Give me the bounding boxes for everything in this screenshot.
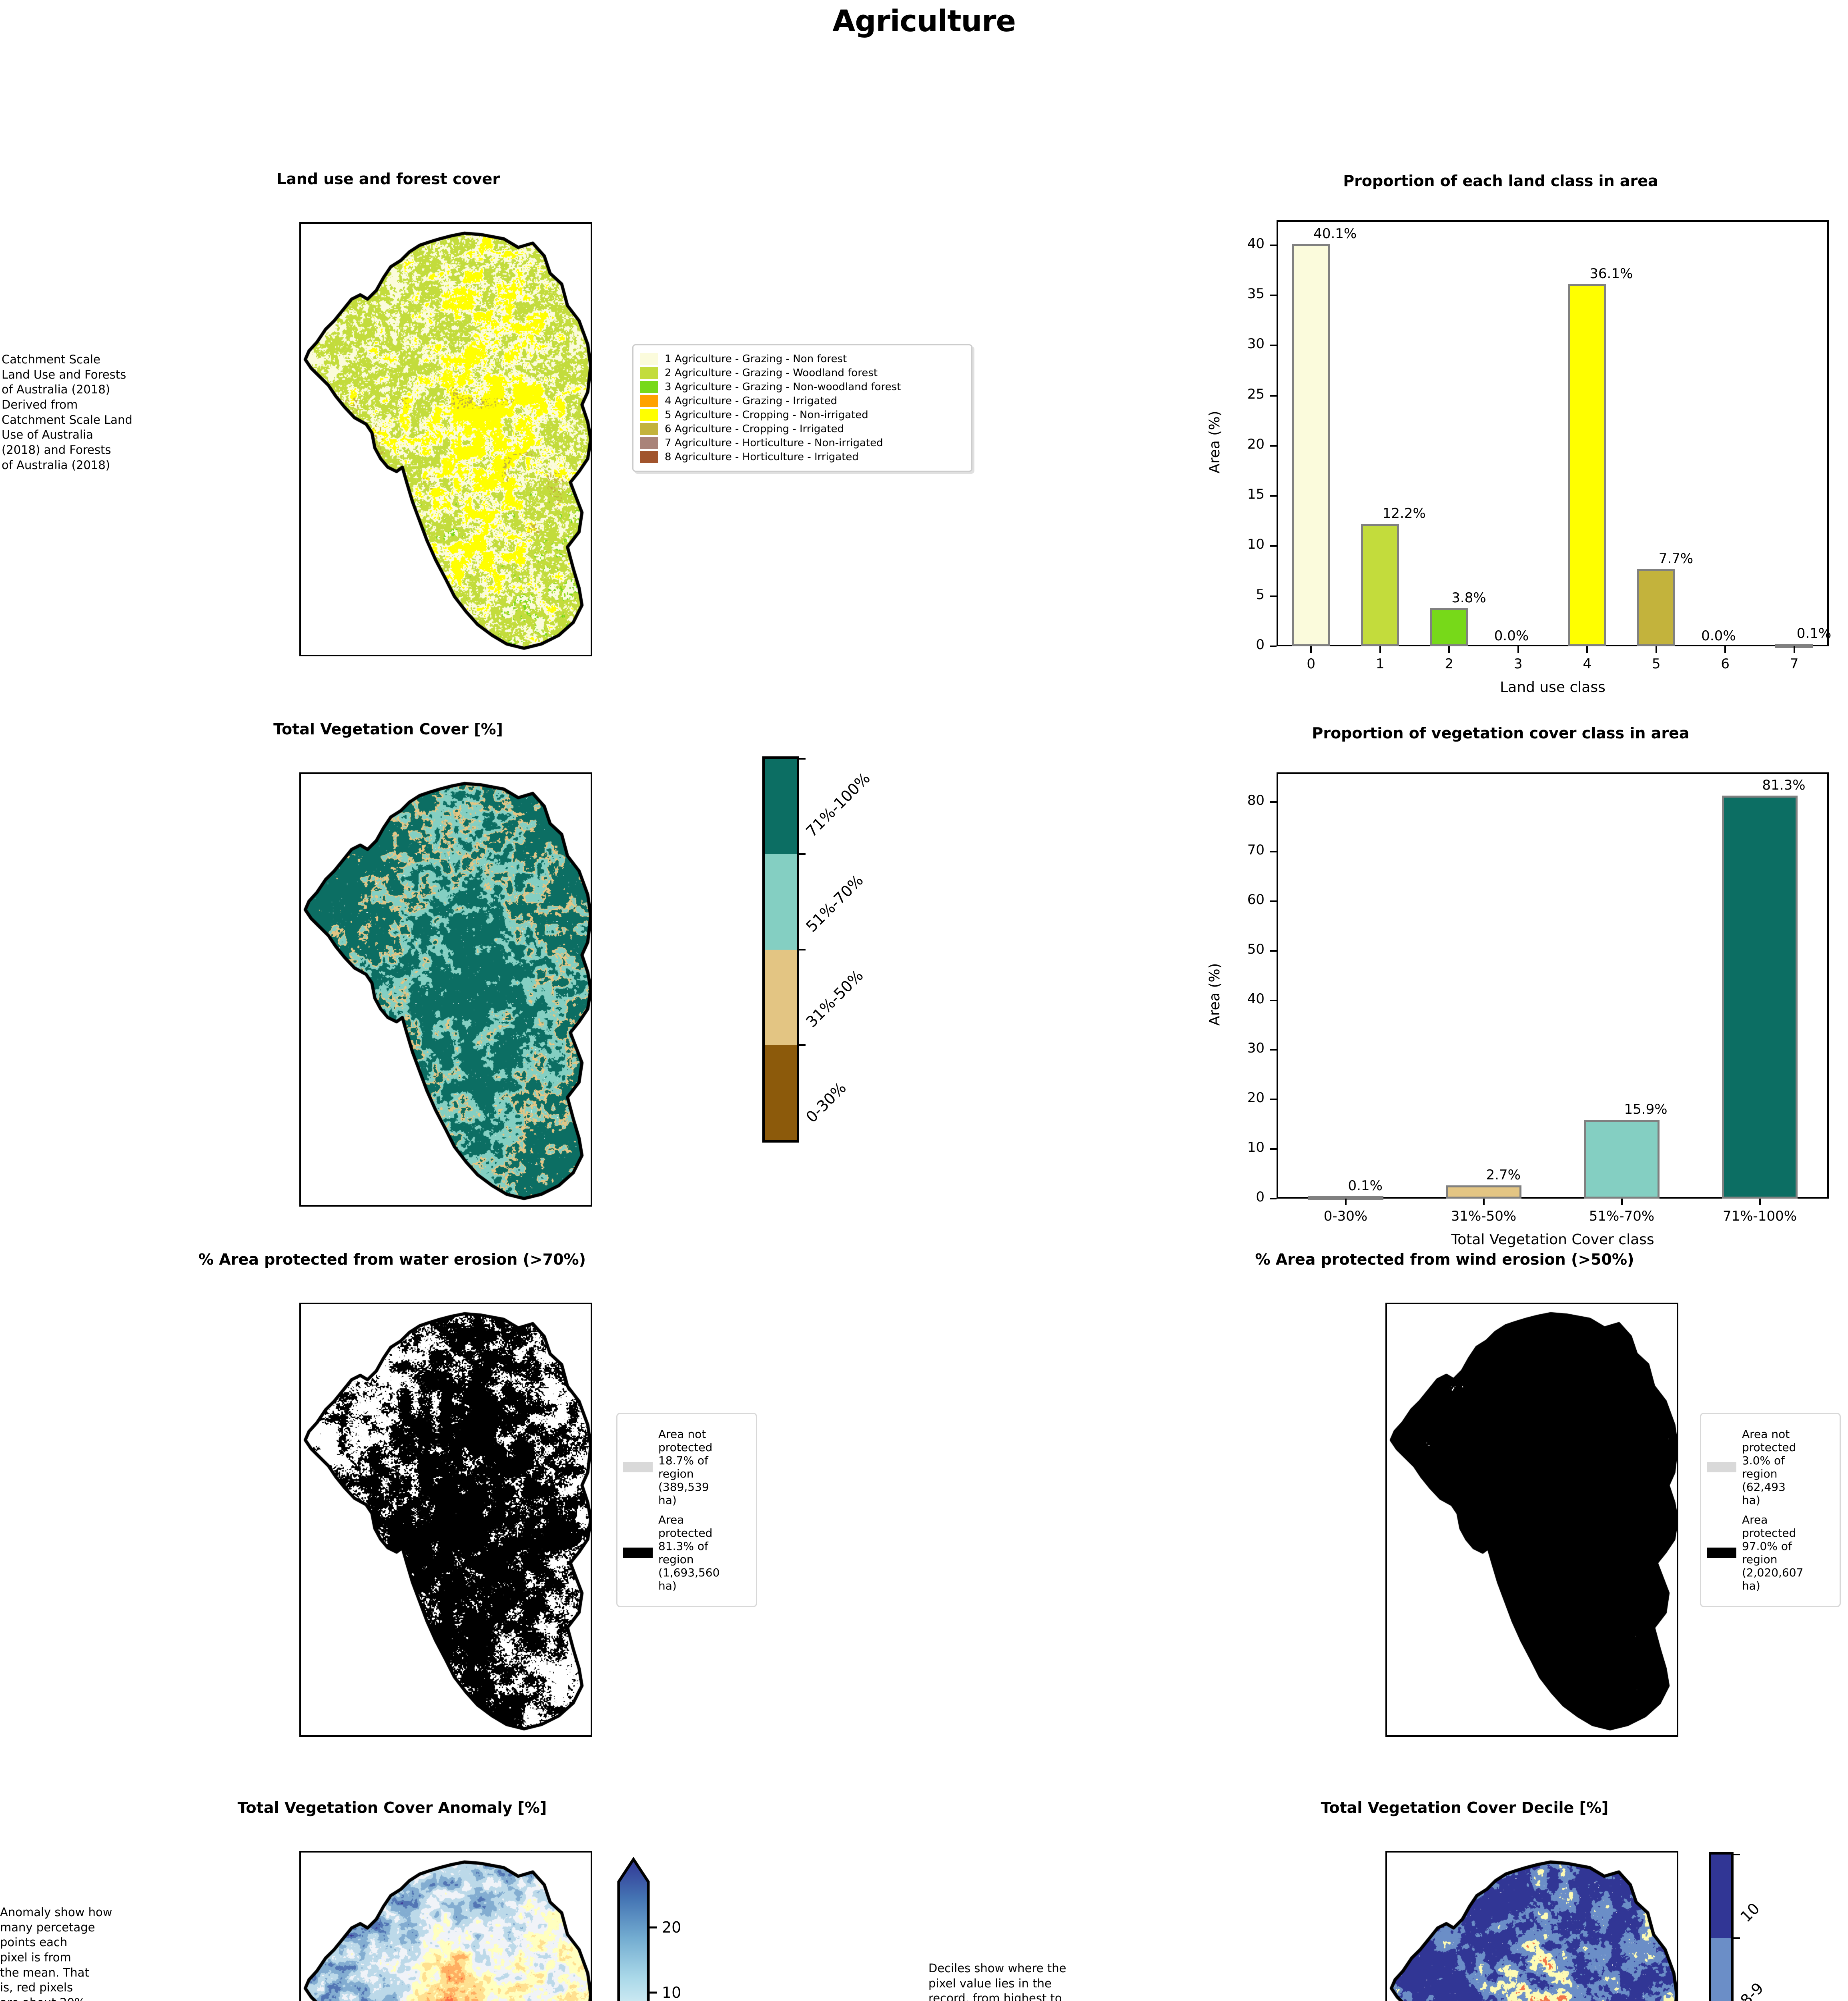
chart-bar-value-label: 2.7% <box>1486 1167 1521 1183</box>
colorbar-segment <box>765 950 797 1045</box>
map-axis-tick <box>299 1123 301 1125</box>
chart-bar-value-label: 0.1% <box>1348 1178 1383 1194</box>
map-axis-tick <box>1385 1360 1387 1362</box>
colorbar-tick <box>798 758 806 760</box>
chart-y-tick-label: 70 <box>1217 842 1265 858</box>
chart-y-tick-label: 60 <box>1217 892 1265 908</box>
land-use-legend-swatch <box>640 367 658 379</box>
land-use-legend-label: 6 Agriculture - Cropping - Irrigated <box>665 423 844 435</box>
colorbar-tick <box>798 1044 806 1046</box>
chart-x-tickmark <box>1310 646 1312 653</box>
map-axis-tick <box>299 1969 301 1971</box>
chart-y-tickmark <box>1270 1148 1277 1150</box>
land-use-legend-item: 2 Agriculture - Grazing - Woodland fores… <box>640 367 965 379</box>
chart-y-tick-label: 35 <box>1217 286 1265 302</box>
land-use-map[interactable] <box>299 222 592 656</box>
decile-colorbar: 12-34-78-910 <box>1709 1852 1734 2001</box>
chart-x-tickmark <box>1621 1199 1623 1205</box>
decile-explainer-note: Deciles show where the pixel value lies … <box>928 1961 1136 2001</box>
land-use-legend-label: 8 Agriculture - Horticulture - Irrigated <box>665 451 859 463</box>
map-axis-tick <box>533 655 534 656</box>
chart-y-tickmark <box>1270 851 1277 852</box>
map-axis-tick <box>1385 1909 1387 1910</box>
colorbar-tick <box>1732 1854 1740 1855</box>
chart-bar[interactable] <box>1446 1185 1522 1199</box>
map-axis-tick <box>299 1360 301 1362</box>
land-use-legend-swatch <box>640 423 658 435</box>
land-use-legend-item: 1 Agriculture - Grazing - Non forest <box>640 353 965 365</box>
erosion-legend-label: Area protected 81.3% of region (1,693,56… <box>658 1513 720 1592</box>
anomaly-map-title: Total Vegetation Cover Anomaly [%] <box>152 1799 632 1817</box>
map-axis-tick <box>411 1735 413 1737</box>
erosion-legend-item: Area protected 81.3% of region (1,693,56… <box>623 1513 750 1592</box>
map-axis-tick <box>1436 1735 1438 1737</box>
map-axis-tick <box>299 340 301 342</box>
map-axis-tick <box>533 1735 534 1737</box>
chart-y-tickmark <box>1270 395 1277 397</box>
colorbar-label: 0-30% <box>802 1079 850 1126</box>
chart-x-tick-label: 51%-70% <box>1566 1208 1678 1224</box>
colorbar-segment <box>765 854 797 949</box>
map-axis-tick <box>411 1205 413 1207</box>
land-use-legend-item: 3 Agriculture - Grazing - Non-woodland f… <box>640 381 965 393</box>
chart-x-tickmark <box>1483 1199 1485 1205</box>
colorbar-segment <box>1711 1855 1731 1938</box>
colorbar-tick <box>798 853 806 855</box>
map-axis-tick <box>299 1046 301 1047</box>
map-axis-tick <box>299 1421 301 1422</box>
colorbar-segment <box>765 1045 797 1140</box>
map-axis-tick <box>472 655 473 656</box>
land-use-legend-label: 2 Agriculture - Grazing - Woodland fores… <box>665 367 878 379</box>
colorbar-segment <box>1711 1938 1731 2001</box>
chart-y-tickmark <box>1270 295 1277 296</box>
chart-y-tick-label: 80 <box>1217 792 1265 808</box>
chart-bar[interactable] <box>1584 1120 1660 1199</box>
water-erosion-map-title: % Area protected from water erosion (>70… <box>140 1251 644 1268</box>
chart-y-tickmark <box>1270 345 1277 346</box>
chart-bar-value-label: 40.1% <box>1313 226 1357 242</box>
wind-erosion-map[interactable] <box>1385 1303 1678 1737</box>
erosion-legend-swatch <box>623 1548 653 1558</box>
chart-x-tickmark <box>1656 646 1657 653</box>
map-axis-tick <box>1385 1498 1387 1500</box>
map-axis-tick <box>472 1205 473 1207</box>
erosion-legend-swatch <box>1707 1548 1736 1558</box>
chart-bar-value-label: 81.3% <box>1762 777 1806 793</box>
chart-y-tickmark <box>1270 1099 1277 1100</box>
chart-y-tick-label: 25 <box>1217 386 1265 402</box>
chart-y-tickmark <box>1270 646 1277 647</box>
land-use-legend-swatch <box>640 409 658 421</box>
map-axis-tick <box>350 1205 352 1207</box>
chart-y-tick-label: 40 <box>1217 236 1265 252</box>
anomaly-colorbar-tick-label: 10 <box>662 1984 681 2001</box>
map-axis-tick <box>299 495 301 497</box>
chart-bar[interactable] <box>1361 524 1399 646</box>
chart-x-tickmark <box>1345 1199 1347 1205</box>
wind-erosion-map-title: % Area protected from wind erosion (>50%… <box>1193 1251 1697 1268</box>
chart-plot-area <box>1277 220 1829 646</box>
map-axis-tick <box>1558 1735 1559 1737</box>
map-axis-tick <box>299 1653 301 1655</box>
chart-y-tickmark <box>1270 950 1277 952</box>
chart-y-tickmark <box>1270 1198 1277 1199</box>
map-axis-tick <box>299 280 301 281</box>
map-axis-tick <box>1619 1735 1620 1737</box>
map-axis-tick <box>533 1205 534 1207</box>
chart-y-tick-label: 0 <box>1217 637 1265 653</box>
chart-x-tickmark <box>1448 646 1450 653</box>
land-use-legend: 1 Agriculture - Grazing - Non forest2 Ag… <box>632 344 972 472</box>
anomaly-colorbar: 20100−10−20 <box>608 1857 728 2001</box>
chart-y-tick-label: 50 <box>1217 941 1265 957</box>
map-axis-tick <box>299 890 301 892</box>
chart-y-tickmark <box>1270 445 1277 447</box>
chart-x-tickmark <box>1517 646 1519 653</box>
land-use-legend-swatch <box>640 437 658 449</box>
chart-y-axis-label: Area (%) <box>1207 411 1223 473</box>
chart-x-tick-label: 31%-50% <box>1428 1208 1540 1224</box>
land-use-legend-label: 5 Agriculture - Cropping - Non-irrigated <box>665 409 868 421</box>
land-use-chart-title: Proportion of each land class in area <box>1169 172 1833 190</box>
land-use-legend-swatch <box>640 395 658 407</box>
page-title: Agriculture <box>0 4 1848 38</box>
chart-bar-value-label: 7.7% <box>1659 551 1693 567</box>
map-axis-tick <box>299 418 301 419</box>
chart-x-tickmark <box>1759 1199 1761 1205</box>
decile-map-title: Total Vegetation Cover Decile [%] <box>1225 1799 1705 1817</box>
chart-bar-value-label: 0.0% <box>1494 628 1529 644</box>
map-axis-tick <box>1385 1421 1387 1422</box>
map-axis-tick <box>299 830 301 832</box>
chart-bar[interactable] <box>1637 569 1675 646</box>
chart-y-tick-label: 5 <box>1217 587 1265 603</box>
land-use-legend-swatch <box>640 353 658 365</box>
veg-cover-map-title: Total Vegetation Cover [%] <box>176 720 600 738</box>
chart-y-tickmark <box>1270 245 1277 246</box>
chart-bar-value-label: 3.8% <box>1451 590 1486 606</box>
chart-y-tick-label: 0 <box>1217 1189 1265 1205</box>
map-axis-tick <box>1385 1969 1387 1971</box>
map-axis-tick <box>1497 1735 1499 1737</box>
land-use-legend-label: 4 Agriculture - Grazing - Irrigated <box>665 395 837 407</box>
colorbar-label: 51%-70% <box>802 871 866 935</box>
chart-x-tickmark <box>1724 646 1726 653</box>
chart-y-tickmark <box>1270 900 1277 902</box>
anomaly-colorbar-gradient: 20100−10−20 <box>608 1857 728 2001</box>
chart-bar[interactable] <box>1430 608 1468 646</box>
chart-x-tick-label: 0-30% <box>1290 1208 1402 1224</box>
chart-bar-value-label: 0.1% <box>1797 626 1831 642</box>
veg-cover-chart: Proportion of vegetation cover class in … <box>1169 724 1833 1237</box>
land-use-legend-item: 8 Agriculture - Horticulture - Irrigated <box>640 451 965 463</box>
land-use-map-title: Land use and forest cover <box>176 170 600 188</box>
erosion-legend-label: Area not protected 18.7% of region (389,… <box>658 1428 712 1507</box>
map-axis-tick <box>472 1735 473 1737</box>
map-axis-tick <box>299 573 301 574</box>
colorbar-label: 8-9 <box>1737 1979 1767 2001</box>
erosion-legend-item: Area not protected 3.0% of region (62,49… <box>1707 1428 1834 1507</box>
erosion-legend-item: Area protected 97.0% of region (2,020,60… <box>1707 1513 1834 1592</box>
erosion-legend-swatch <box>623 1462 653 1472</box>
chart-bar-value-label: 0.0% <box>1701 628 1736 644</box>
chart-y-tickmark <box>1270 595 1277 597</box>
water-erosion-legend: Area not protected 18.7% of region (389,… <box>616 1413 757 1607</box>
chart-x-tickmark <box>1586 646 1588 653</box>
chart-y-axis-label: Area (%) <box>1207 963 1223 1026</box>
map-axis-tick <box>350 1735 352 1737</box>
land-use-legend-swatch <box>640 451 658 463</box>
land-use-legend-swatch <box>640 381 658 393</box>
map-axis-tick <box>1385 1653 1387 1655</box>
chart-x-axis-label: Total Vegetation Cover class <box>1277 1231 1829 1248</box>
erosion-legend-label: Area protected 97.0% of region (2,020,60… <box>1742 1513 1803 1592</box>
land-use-source-note: Catchment Scale Land Use and Forests of … <box>2 352 174 473</box>
map-axis-tick <box>350 655 352 656</box>
land-use-legend-label: 3 Agriculture - Grazing - Non-woodland f… <box>665 381 901 393</box>
map-axis-tick <box>411 655 413 656</box>
chart-bar[interactable] <box>1722 796 1798 1199</box>
map-axis-tick <box>299 1909 301 1910</box>
veg-cover-chart-title: Proportion of vegetation cover class in … <box>1169 724 1833 742</box>
chart-bar-value-label: 15.9% <box>1624 1101 1668 1117</box>
veg-cover-colorbar: 0-30%31%-50%51%-70%71%-100% <box>762 756 799 1143</box>
chart-x-tickmark <box>1794 646 1795 653</box>
land-use-legend-item: 7 Agriculture - Horticulture - Non-irrig… <box>640 437 965 449</box>
erosion-legend-item: Area not protected 18.7% of region (389,… <box>623 1428 750 1507</box>
colorbar-tick <box>798 949 806 950</box>
chart-bar[interactable] <box>1568 284 1606 646</box>
map-axis-tick <box>299 1576 301 1578</box>
chart-y-tickmark <box>1270 1000 1277 1001</box>
veg-cover-map[interactable] <box>299 772 592 1207</box>
chart-bar[interactable] <box>1292 244 1330 646</box>
chart-y-tick-label: 30 <box>1217 336 1265 352</box>
chart-y-tickmark <box>1270 1049 1277 1051</box>
decile-map[interactable] <box>1385 1851 1678 2001</box>
chart-bar-value-label: 12.2% <box>1383 505 1426 521</box>
colorbar-label: 31%-50% <box>802 966 866 1031</box>
colorbar-tick <box>1732 1937 1740 1939</box>
anomaly-colorbar-tick-label: 20 <box>662 1919 681 1936</box>
water-erosion-map[interactable] <box>299 1303 592 1737</box>
chart-y-tick-label: 20 <box>1217 436 1265 452</box>
colorbar-label: 71%-100% <box>802 769 873 840</box>
land-use-legend-item: 6 Agriculture - Cropping - Irrigated <box>640 423 965 435</box>
map-axis-tick <box>1385 1576 1387 1578</box>
chart-y-tick-label: 15 <box>1217 486 1265 502</box>
chart-y-tickmark <box>1270 545 1277 547</box>
chart-x-tick-label: 71%-100% <box>1704 1208 1816 1224</box>
land-use-chart: Proportion of each land class in area 05… <box>1169 172 1833 684</box>
chart-y-tickmark <box>1270 801 1277 803</box>
chart-y-tick-label: 20 <box>1217 1090 1265 1106</box>
anomaly-map[interactable] <box>299 1851 592 2001</box>
erosion-legend-label: Area not protected 3.0% of region (62,49… <box>1742 1428 1796 1507</box>
chart-y-tickmark <box>1270 495 1277 497</box>
chart-x-tickmark <box>1379 646 1381 653</box>
chart-y-tick-label: 40 <box>1217 991 1265 1007</box>
wind-erosion-legend: Area not protected 3.0% of region (62,49… <box>1700 1413 1841 1607</box>
colorbar-label: 10 <box>1737 1899 1763 1925</box>
chart-y-tick-label: 10 <box>1217 1139 1265 1155</box>
colorbar-segment <box>765 759 797 854</box>
land-use-legend-item: 4 Agriculture - Grazing - Irrigated <box>640 395 965 407</box>
erosion-legend-swatch <box>1707 1462 1736 1472</box>
map-axis-tick <box>299 968 301 970</box>
chart-x-tick-label: 7 <box>1738 656 1848 672</box>
chart-y-tick-label: 30 <box>1217 1040 1265 1056</box>
land-use-legend-label: 7 Agriculture - Horticulture - Non-irrig… <box>665 437 883 449</box>
anomaly-explainer-note: Anomaly show how many percetage points e… <box>0 1905 168 2001</box>
chart-x-axis-label: Land use class <box>1277 679 1829 696</box>
land-use-legend-label: 1 Agriculture - Grazing - Non forest <box>665 353 847 365</box>
land-use-legend-item: 5 Agriculture - Cropping - Non-irrigated <box>640 409 965 421</box>
chart-bar-value-label: 36.1% <box>1589 266 1633 282</box>
map-axis-tick <box>299 1498 301 1500</box>
chart-y-tick-label: 10 <box>1217 536 1265 552</box>
